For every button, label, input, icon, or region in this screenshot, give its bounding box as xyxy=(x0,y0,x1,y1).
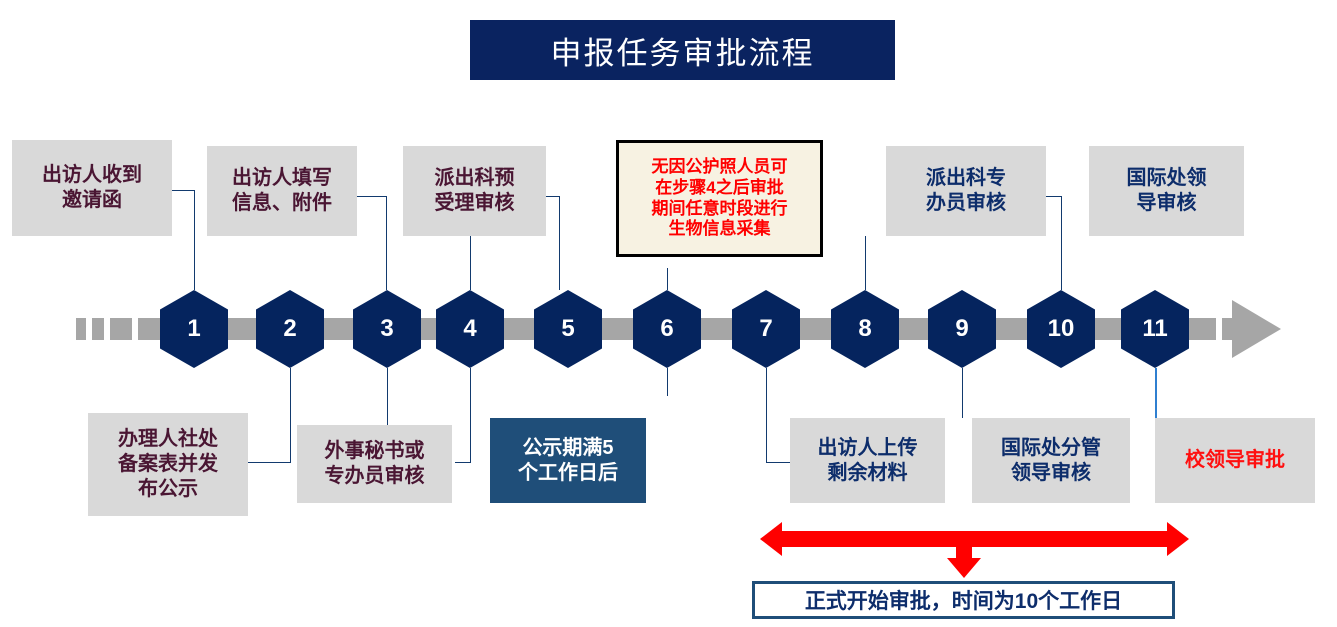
step-hexagon-5[interactable]: 5 xyxy=(534,290,602,368)
connector-bot-2-v xyxy=(290,368,291,463)
label-line-1: 国际处分管 xyxy=(1001,436,1101,461)
step-hexagon-10[interactable]: 10 xyxy=(1027,290,1095,368)
connector-bot-2-h xyxy=(248,462,291,463)
step-hexagon-4[interactable]: 4 xyxy=(436,290,504,368)
note-line-1: 无因公护照人员可 xyxy=(652,157,788,178)
label-line-2: 个工作日后 xyxy=(518,461,618,486)
timeline-dash-right-1 xyxy=(1190,318,1216,340)
step-number: 5 xyxy=(561,315,574,343)
connector-bot-3-v xyxy=(387,368,388,428)
note-line-3: 期间任意时段进行 xyxy=(652,199,788,220)
red-arrow-shaft xyxy=(781,531,1168,547)
step-number: 4 xyxy=(463,315,476,343)
label-line-2: 邀请函 xyxy=(42,188,142,213)
red-arrow-left-head-icon xyxy=(760,522,782,556)
label-top-step-1[interactable]: 出访人收到 邀请函 xyxy=(12,140,172,236)
note-line-4: 生物信息采集 xyxy=(652,219,788,240)
step-hexagon-11[interactable]: 11 xyxy=(1121,290,1189,368)
connector-top-1-v xyxy=(194,190,195,290)
connector-top-2-h xyxy=(356,196,387,197)
step-hexagon-1[interactable]: 1 xyxy=(160,290,228,368)
step-hexagon-6[interactable]: 6 xyxy=(633,290,701,368)
label-line-1: 派出科预 xyxy=(435,166,515,191)
connector-top-2-v xyxy=(386,196,387,290)
step-hexagon-3[interactable]: 3 xyxy=(353,290,421,368)
step-number: 3 xyxy=(380,315,393,343)
label-line-2: 领导审核 xyxy=(1001,461,1101,486)
label-line-1: 国际处领 xyxy=(1127,166,1207,191)
connector-bot-4-v xyxy=(470,368,471,463)
label-line-2: 受理审核 xyxy=(435,191,515,216)
timeline-dash-left-3 xyxy=(110,318,132,340)
label-bottom-step-7[interactable]: 出访人上传 剩余材料 xyxy=(790,418,945,503)
label-top-step-8[interactable]: 派出科专 办员审核 xyxy=(886,146,1046,236)
label-line-1: 校领导审批 xyxy=(1185,448,1285,473)
label-line-1: 出访人上传 xyxy=(818,436,918,461)
step-hexagon-8[interactable]: 8 xyxy=(831,290,899,368)
label-bottom-step-11[interactable]: 校领导审批 xyxy=(1155,418,1315,503)
timeline-dash-left-1 xyxy=(76,318,86,340)
connector-top-1-h xyxy=(172,190,195,191)
label-line-1: 办理人社处 xyxy=(118,427,218,452)
step-hexagon-9[interactable]: 9 xyxy=(928,290,996,368)
title-banner: 申报任务审批流程 xyxy=(470,20,895,80)
label-line-2: 信息、附件 xyxy=(232,191,332,216)
label-line-2: 专办员审核 xyxy=(325,464,425,489)
connector-bot-7-h xyxy=(766,462,790,463)
label-line-3: 布公示 xyxy=(118,477,218,502)
connector-top-10-h xyxy=(1046,196,1062,197)
label-line-2: 办员审核 xyxy=(926,191,1006,216)
connector-bot-9-v xyxy=(962,368,963,418)
step-number: 8 xyxy=(858,315,871,343)
note-line-2: 在步骤4之后审批 xyxy=(652,178,788,199)
label-bottom-step-2[interactable]: 办理人社处 备案表并发 布公示 xyxy=(88,413,248,516)
label-bottom-step-3[interactable]: 外事秘书或 专办员审核 xyxy=(297,425,452,503)
red-arrow-right-head-icon xyxy=(1167,522,1189,556)
label-top-step-4[interactable]: 派出科预 受理审核 xyxy=(403,146,546,236)
step-hexagon-2[interactable]: 2 xyxy=(256,290,324,368)
caption-text: 正式开始审批，时间为10个工作日 xyxy=(805,585,1122,615)
label-line-2: 剩余材料 xyxy=(818,461,918,486)
connector-top-8-v xyxy=(865,236,866,290)
page-title: 申报任务审批流程 xyxy=(551,28,815,73)
step-number: 1 xyxy=(187,315,200,343)
label-line-1: 派出科专 xyxy=(926,166,1006,191)
step-number: 6 xyxy=(660,315,673,343)
step-number: 11 xyxy=(1142,315,1167,343)
step-number: 9 xyxy=(955,315,968,343)
timeline-arrowhead-icon xyxy=(1232,300,1281,358)
label-line-2: 导审核 xyxy=(1127,191,1207,216)
connector-top-3-v2 xyxy=(470,236,471,290)
label-line-1: 外事秘书或 xyxy=(325,439,425,464)
connector-bot-4-h xyxy=(455,462,471,463)
connector-top-3-h xyxy=(546,196,560,197)
label-line-2: 备案表并发 xyxy=(118,452,218,477)
label-bottom-step-9[interactable]: 国际处分管 领导审核 xyxy=(972,418,1130,503)
label-line-1: 公示期满5 xyxy=(518,436,618,461)
connector-bot-6-v xyxy=(667,368,668,396)
flowchart-canvas: 申报任务审批流程 1 2 3 4 5 6 7 xyxy=(0,0,1337,627)
label-top-step-2[interactable]: 出访人填写 信息、附件 xyxy=(207,146,357,236)
connector-top-10-v xyxy=(1061,196,1062,290)
connector-top-3-v xyxy=(559,196,560,290)
connector-bot-11-v xyxy=(1155,368,1157,420)
connector-top-6-v xyxy=(667,268,668,290)
step-number: 2 xyxy=(283,315,296,343)
step-number: 10 xyxy=(1048,315,1075,343)
step-number: 7 xyxy=(759,315,772,343)
label-bottom-step-5[interactable]: 公示期满5 个工作日后 xyxy=(490,418,646,503)
label-line-1: 出访人填写 xyxy=(232,166,332,191)
note-callout-box[interactable]: 无因公护照人员可 在步骤4之后审批 期间任意时段进行 生物信息采集 xyxy=(616,140,823,257)
label-top-step-10[interactable]: 国际处领 导审核 xyxy=(1089,146,1244,236)
red-arrow-down-head-icon xyxy=(947,558,981,578)
step-hexagon-7[interactable]: 7 xyxy=(732,290,800,368)
label-line-1: 出访人收到 xyxy=(42,163,142,188)
connector-bot-7-v xyxy=(766,368,767,463)
timeline-dash-left-2 xyxy=(92,318,104,340)
caption-box[interactable]: 正式开始审批，时间为10个工作日 xyxy=(752,581,1175,619)
